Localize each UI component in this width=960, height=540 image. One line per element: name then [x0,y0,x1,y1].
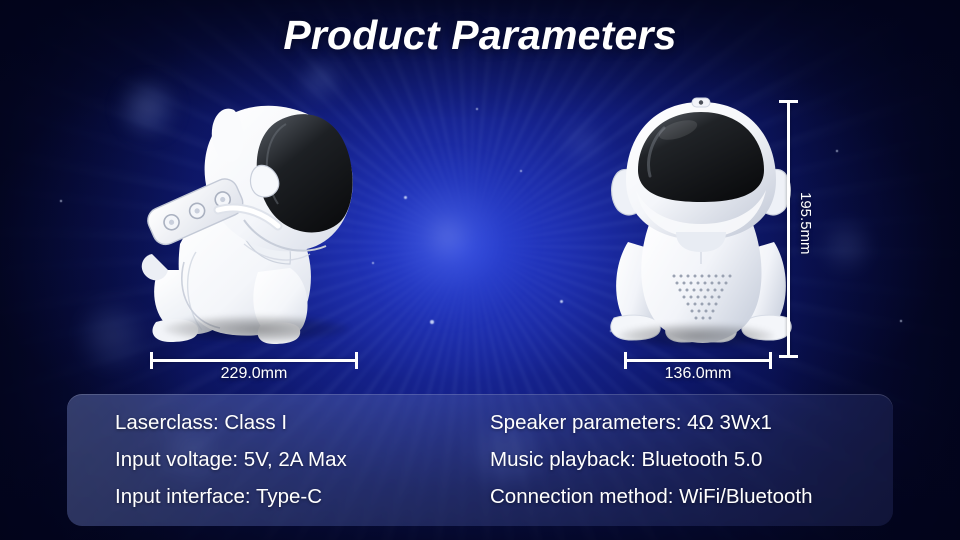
dimension-label-side-width: 229.0mm [150,365,358,383]
spec-speaker-parameters: Speaker parameters: 4Ω 3Wx1 [490,407,885,439]
astronaut-dog-front-view [606,94,796,354]
star-speck [430,320,434,324]
dimension-line-front-height [787,100,790,358]
star-speck [520,170,522,172]
spec-input-interface: Input interface: Type-C [115,481,490,513]
astronaut-dog-side-view [140,94,376,350]
figure-shadow [164,316,350,342]
specifications-column-left: Laserclass: Class I Input voltage: 5V, 2… [115,407,490,513]
star-speck [476,108,478,110]
astronaut-dog-front-svg [606,94,796,354]
star-speck [404,196,407,199]
dimension-label-front-width: 136.0mm [624,365,772,383]
dimension-line-side-width [150,359,358,362]
star-speck [60,200,62,202]
specifications-column-right: Speaker parameters: 4Ω 3Wx1 Music playba… [490,407,885,513]
spec-input-voltage: Input voltage: 5V, 2A Max [115,444,490,476]
dimension-label-front-height: 195.5mm [797,192,814,255]
spec-music-playback: Music playback: Bluetooth 5.0 [490,444,885,476]
specifications-panel: Laserclass: Class I Input voltage: 5V, 2… [67,394,893,526]
spec-connection-method: Connection method: WiFi/Bluetooth [490,481,885,513]
star-speck [900,320,902,322]
star-speck [836,150,838,152]
figure-shadow [618,324,774,348]
bokeh-dot [78,300,148,370]
star-speck [560,300,563,303]
spec-laserclass: Laserclass: Class I [115,407,490,439]
bokeh-dot [560,120,604,164]
page-title: Product Parameters [0,12,960,59]
bokeh-dot [820,220,872,272]
dimension-line-front-width [624,359,772,362]
product-parameters-slide: Product Parameters [0,0,960,540]
astronaut-dog-side-svg [140,94,376,350]
